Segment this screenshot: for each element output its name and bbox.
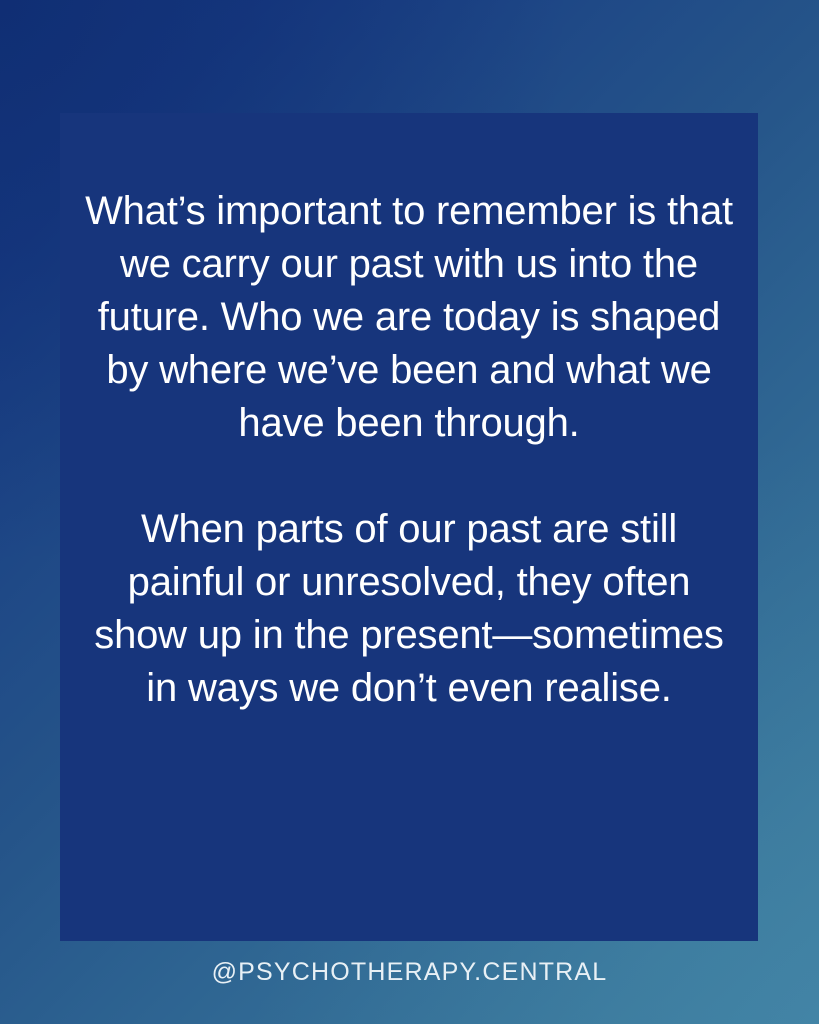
account-handle: @PSYCHOTHERAPY.CENTRAL bbox=[0, 958, 819, 987]
quote-paragraph-1: What’s important to remember is that we … bbox=[78, 185, 740, 450]
quote-text-block: What’s important to remember is that we … bbox=[60, 185, 758, 715]
quote-paragraph-2: When parts of our past are still painful… bbox=[78, 503, 740, 715]
quote-card: What’s important to remember is that we … bbox=[60, 113, 758, 941]
quote-poster: What’s important to remember is that we … bbox=[0, 0, 819, 1024]
